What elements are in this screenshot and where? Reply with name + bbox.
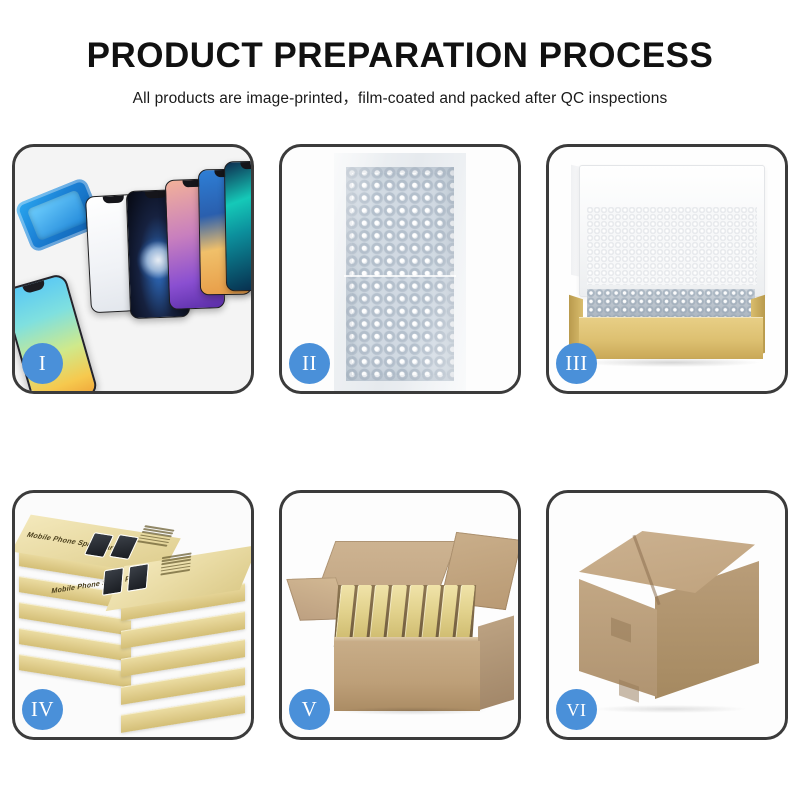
- drop-shadow: [595, 705, 745, 713]
- box-screen-image: [102, 567, 124, 596]
- retail-box: [386, 585, 406, 643]
- carton-side-face: [478, 615, 514, 710]
- step-badge-6: VI: [556, 689, 597, 730]
- drop-shadow: [338, 707, 486, 715]
- retail-box: [403, 585, 423, 643]
- page-subtitle: All products are image-printed，film-coat…: [0, 86, 800, 108]
- step-badge-1: I: [22, 343, 63, 384]
- bubble-wrap-pouch: [334, 153, 466, 391]
- step-badge-2: II: [289, 343, 330, 384]
- drop-shadow: [583, 358, 759, 367]
- plastic-sheen: [334, 153, 466, 391]
- page-header: PRODUCT PREPARATION PROCESS All products…: [0, 0, 800, 108]
- step-panel-1: I: [12, 144, 254, 394]
- carton-front-face: [334, 641, 480, 711]
- step-badge-3: III: [556, 343, 597, 384]
- phone-screen-teal: [224, 161, 251, 292]
- step-panel-4: Mobile Phone Spare Parts Mobile Phone Sp…: [12, 490, 254, 740]
- step-badge-4: IV: [22, 689, 63, 730]
- page-title: PRODUCT PREPARATION PROCESS: [0, 38, 800, 73]
- step-panel-3: III: [546, 144, 788, 394]
- process-steps-grid: I II: [12, 144, 788, 726]
- bubble-wrapped-contents: [587, 289, 755, 319]
- product-preparation-process-page: PRODUCT PREPARATION PROCESS All products…: [0, 0, 800, 800]
- box-screen-image: [127, 563, 149, 592]
- kraft-box-front: [579, 317, 763, 359]
- bubble-texture: [587, 289, 755, 319]
- step-panel-2: II: [279, 144, 521, 394]
- foam-padding: [587, 207, 757, 285]
- step-badge-5: V: [289, 689, 330, 730]
- step-panel-6: VI: [546, 490, 788, 740]
- step-panel-5: V: [279, 490, 521, 740]
- retail-boxes-in-carton: [335, 585, 475, 643]
